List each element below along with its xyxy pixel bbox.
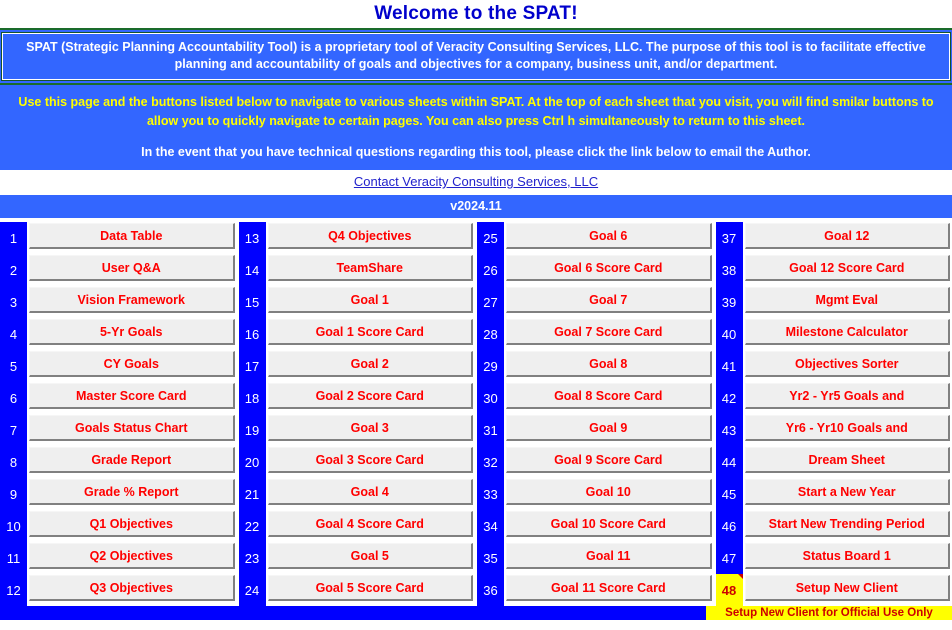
nav-index-cell: 30 xyxy=(477,382,504,414)
nav-button-cell: Start a New Year xyxy=(743,478,952,510)
nav-index-cell: 24 xyxy=(239,574,266,606)
nav-row: 32Goal 9 Score Card xyxy=(477,446,714,478)
nav-index-cell: 15 xyxy=(239,286,266,318)
contact-author-link[interactable]: Contact Veracity Consulting Services, LL… xyxy=(354,174,598,189)
nav-row: 46Start New Trending Period xyxy=(716,510,952,542)
nav-index-cell: 23 xyxy=(239,542,266,574)
nav-button-29[interactable]: Goal 8 xyxy=(506,351,712,377)
nav-button-33[interactable]: Goal 10 xyxy=(506,479,712,505)
nav-button-48[interactable]: Setup New Client xyxy=(745,575,951,601)
nav-row: 27Goal 7 xyxy=(477,286,714,318)
nav-button-cell: Goal 10 xyxy=(504,478,714,510)
nav-button-44[interactable]: Dream Sheet xyxy=(745,447,951,473)
nav-button-18[interactable]: Goal 2 Score Card xyxy=(268,383,474,409)
nav-button-cell: Q1 Objectives xyxy=(27,510,237,542)
nav-index-cell: 32 xyxy=(477,446,504,478)
nav-button-cell: Master Score Card xyxy=(27,382,237,414)
nav-button-41[interactable]: Objectives Sorter xyxy=(745,351,951,377)
nav-button-cell: Data Table xyxy=(27,222,237,254)
nav-index-cell: 11 xyxy=(0,542,27,574)
nav-button-17[interactable]: Goal 2 xyxy=(268,351,474,377)
nav-row: 9Grade % Report xyxy=(0,478,237,510)
nav-button-25[interactable]: Goal 6 xyxy=(506,223,712,249)
nav-button-11[interactable]: Q2 Objectives xyxy=(29,543,235,569)
nav-button-cell: Goal 9 Score Card xyxy=(504,446,714,478)
version-label: v2024.11 xyxy=(450,199,501,213)
nav-index-cell: 2 xyxy=(0,254,27,286)
nav-button-cell: Goal 10 Score Card xyxy=(504,510,714,542)
nav-button-cell: Yr6 - Yr10 Goals and xyxy=(743,414,952,446)
nav-index-cell: 37 xyxy=(716,222,743,254)
nav-index-cell: 5 xyxy=(0,350,27,382)
nav-index-cell: 6 xyxy=(0,382,27,414)
nav-row: 10Q1 Objectives xyxy=(0,510,237,542)
nav-button-7[interactable]: Goals Status Chart xyxy=(29,415,235,441)
nav-button-9[interactable]: Grade % Report xyxy=(29,479,235,505)
nav-button-cell: Status Board 1 xyxy=(743,542,952,574)
nav-button-cell: Goal 3 Score Card xyxy=(266,446,476,478)
nav-button-cell: Objectives Sorter xyxy=(743,350,952,382)
nav-button-cell: Goal 8 Score Card xyxy=(504,382,714,414)
nav-row: 31Goal 9 xyxy=(477,414,714,446)
nav-row: 7Goals Status Chart xyxy=(0,414,237,446)
nav-index-cell: 25 xyxy=(477,222,504,254)
description-banner-box: SPAT (Strategic Planning Accountability … xyxy=(2,33,950,80)
nav-button-36[interactable]: Goal 11 Score Card xyxy=(506,575,712,601)
nav-button-38[interactable]: Goal 12 Score Card xyxy=(745,255,951,281)
nav-button-cell: Goal 11 xyxy=(504,542,714,574)
nav-row: 48Setup New Client xyxy=(716,574,952,606)
nav-index-cell: 26 xyxy=(477,254,504,286)
nav-button-cell: Goal 5 Score Card xyxy=(266,574,476,606)
nav-button-28[interactable]: Goal 7 Score Card xyxy=(506,319,712,345)
nav-button-13[interactable]: Q4 Objectives xyxy=(268,223,474,249)
nav-button-cell: Vision Framework xyxy=(27,286,237,318)
nav-index-cell: 13 xyxy=(239,222,266,254)
nav-button-37[interactable]: Goal 12 xyxy=(745,223,951,249)
nav-button-cell: Goals Status Chart xyxy=(27,414,237,446)
nav-index-cell: 10 xyxy=(0,510,27,542)
nav-button-21[interactable]: Goal 4 xyxy=(268,479,474,505)
nav-button-cell: Goal 2 xyxy=(266,350,476,382)
nav-index-cell: 16 xyxy=(239,318,266,350)
nav-index-cell: 9 xyxy=(0,478,27,510)
nav-button-24[interactable]: Goal 5 Score Card xyxy=(268,575,474,601)
nav-button-45[interactable]: Start a New Year xyxy=(745,479,951,505)
nav-index-cell: 14 xyxy=(239,254,266,286)
nav-row: 38Goal 12 Score Card xyxy=(716,254,952,286)
footer-strip: Setup New Client for Official Use Only xyxy=(0,606,952,620)
nav-button-cell: Goal 3 xyxy=(266,414,476,446)
nav-button-cell: Goal 7 Score Card xyxy=(504,318,714,350)
nav-index-cell: 21 xyxy=(239,478,266,510)
nav-button-cell: Milestone Calculator xyxy=(743,318,952,350)
nav-button-cell: Goal 12 Score Card xyxy=(743,254,952,286)
nav-button-cell: Yr2 - Yr5 Goals and xyxy=(743,382,952,414)
nav-row: 37Goal 12 xyxy=(716,222,952,254)
nav-button-cell: Goal 1 Score Card xyxy=(266,318,476,350)
nav-button-16[interactable]: Goal 1 Score Card xyxy=(268,319,474,345)
nav-index-cell: 12 xyxy=(0,574,27,606)
nav-row: 19Goal 3 xyxy=(239,414,476,446)
nav-row: 6Master Score Card xyxy=(0,382,237,414)
nav-button-4[interactable]: 5-Yr Goals xyxy=(29,319,235,345)
nav-row: 16Goal 1 Score Card xyxy=(239,318,476,350)
nav-button-47[interactable]: Status Board 1 xyxy=(745,543,951,569)
nav-button-cell: CY Goals xyxy=(27,350,237,382)
nav-button-14[interactable]: TeamShare xyxy=(268,255,474,281)
nav-index-cell: 7 xyxy=(0,414,27,446)
nav-button-32[interactable]: Goal 9 Score Card xyxy=(506,447,712,473)
nav-button-cell: Goal 4 xyxy=(266,478,476,510)
nav-button-cell: Dream Sheet xyxy=(743,446,952,478)
nav-row: 47Status Board 1 xyxy=(716,542,952,574)
nav-button-15[interactable]: Goal 1 xyxy=(268,287,474,313)
nav-index-cell: 33 xyxy=(477,478,504,510)
nav-row: 42Yr2 - Yr5 Goals and xyxy=(716,382,952,414)
nav-row: 33Goal 10 xyxy=(477,478,714,510)
nav-button-22[interactable]: Goal 4 Score Card xyxy=(268,511,474,537)
nav-index-cell: 40 xyxy=(716,318,743,350)
nav-button-cell: Goal 5 xyxy=(266,542,476,574)
nav-button-19[interactable]: Goal 3 xyxy=(268,415,474,441)
description-banner: SPAT (Strategic Planning Accountability … xyxy=(0,28,952,85)
nav-row: 17Goal 2 xyxy=(239,350,476,382)
nav-index-cell: 29 xyxy=(477,350,504,382)
nav-button-cell: Goal 9 xyxy=(504,414,714,446)
nav-index-cell: 36 xyxy=(477,574,504,606)
nav-index-cell: 20 xyxy=(239,446,266,478)
instructions-section: Use this page and the buttons listed bel… xyxy=(0,85,952,170)
nav-button-3[interactable]: Vision Framework xyxy=(29,287,235,313)
nav-index-cell: 22 xyxy=(239,510,266,542)
nav-button-cell: Start New Trending Period xyxy=(743,510,952,542)
nav-button-12[interactable]: Q3 Objectives xyxy=(29,575,235,601)
nav-row: 34Goal 10 Score Card xyxy=(477,510,714,542)
nav-row: 5CY Goals xyxy=(0,350,237,382)
nav-button-cell: Goal 7 xyxy=(504,286,714,318)
nav-row: 8Grade Report xyxy=(0,446,237,478)
nav-row: 35Goal 11 xyxy=(477,542,714,574)
nav-button-cell: User Q&A xyxy=(27,254,237,286)
nav-row: 13Q4 Objectives xyxy=(239,222,476,254)
nav-row: 3Vision Framework xyxy=(0,286,237,318)
nav-index-cell: 1 xyxy=(0,222,27,254)
version-bar: v2024.11 xyxy=(0,195,952,218)
nav-button-43[interactable]: Yr6 - Yr10 Goals and xyxy=(745,415,951,441)
nav-button-34[interactable]: Goal 10 Score Card xyxy=(506,511,712,537)
nav-button-cell: Setup New Client xyxy=(743,574,952,606)
nav-index-cell: 35 xyxy=(477,542,504,574)
nav-row: 12Q3 Objectives xyxy=(0,574,237,606)
nav-button-cell: Goal 8 xyxy=(504,350,714,382)
nav-row: 14TeamShare xyxy=(239,254,476,286)
nav-index-cell: 18 xyxy=(239,382,266,414)
nav-index-cell: 31 xyxy=(477,414,504,446)
nav-index-cell: 39 xyxy=(716,286,743,318)
nav-index-cell: 48 xyxy=(716,574,743,606)
nav-row: 39Mgmt Eval xyxy=(716,286,952,318)
nav-row: 43Yr6 - Yr10 Goals and xyxy=(716,414,952,446)
nav-index-cell: 34 xyxy=(477,510,504,542)
nav-row: 36Goal 11 Score Card xyxy=(477,574,714,606)
nav-button-27[interactable]: Goal 7 xyxy=(506,287,712,313)
nav-row: 45Start a New Year xyxy=(716,478,952,510)
nav-button-6[interactable]: Master Score Card xyxy=(29,383,235,409)
nav-index-cell: 45 xyxy=(716,478,743,510)
nav-index-cell: 41 xyxy=(716,350,743,382)
nav-row: 40Milestone Calculator xyxy=(716,318,952,350)
nav-button-20[interactable]: Goal 3 Score Card xyxy=(268,447,474,473)
nav-button-39[interactable]: Mgmt Eval xyxy=(745,287,951,313)
nav-row: 11Q2 Objectives xyxy=(0,542,237,574)
nav-row: 2User Q&A xyxy=(0,254,237,286)
nav-index-cell: 44 xyxy=(716,446,743,478)
nav-button-23[interactable]: Goal 5 xyxy=(268,543,474,569)
nav-button-cell: Goal 1 xyxy=(266,286,476,318)
nav-index-cell: 17 xyxy=(239,350,266,382)
nav-button-40[interactable]: Milestone Calculator xyxy=(745,319,951,345)
nav-index-cell: 46 xyxy=(716,510,743,542)
nav-button-cell: TeamShare xyxy=(266,254,476,286)
nav-row: 20Goal 3 Score Card xyxy=(239,446,476,478)
nav-index-cell: 8 xyxy=(0,446,27,478)
nav-column-3: 25Goal 626Goal 6 Score Card27Goal 728Goa… xyxy=(477,222,714,606)
nav-button-46[interactable]: Start New Trending Period xyxy=(745,511,951,537)
nav-row: 45-Yr Goals xyxy=(0,318,237,350)
nav-column-2: 13Q4 Objectives14TeamShare15Goal 116Goal… xyxy=(239,222,476,606)
nav-button-cell: Goal 11 Score Card xyxy=(504,574,714,606)
nav-row: 15Goal 1 xyxy=(239,286,476,318)
nav-row: 25Goal 6 xyxy=(477,222,714,254)
nav-button-cell: Goal 6 xyxy=(504,222,714,254)
nav-index-cell: 19 xyxy=(239,414,266,446)
comment-marker-icon xyxy=(738,574,743,579)
nav-index-cell: 3 xyxy=(0,286,27,318)
nav-column-1: 1Data Table2User Q&A3Vision Framework45-… xyxy=(0,222,237,606)
nav-row: 29Goal 8 xyxy=(477,350,714,382)
nav-index-cell: 27 xyxy=(477,286,504,318)
nav-button-cell: Goal 2 Score Card xyxy=(266,382,476,414)
nav-button-cell: Q2 Objectives xyxy=(27,542,237,574)
nav-index-cell: 43 xyxy=(716,414,743,446)
page-title: Welcome to the SPAT! xyxy=(374,3,578,25)
nav-button-42[interactable]: Yr2 - Yr5 Goals and xyxy=(745,383,951,409)
nav-column-4: 37Goal 1238Goal 12 Score Card39Mgmt Eval… xyxy=(716,222,952,606)
nav-button-26[interactable]: Goal 6 Score Card xyxy=(506,255,712,281)
nav-index-cell: 47 xyxy=(716,542,743,574)
nav-index-cell: 4 xyxy=(0,318,27,350)
nav-button-cell: 5-Yr Goals xyxy=(27,318,237,350)
nav-row: 26Goal 6 Score Card xyxy=(477,254,714,286)
nav-row: 28Goal 7 Score Card xyxy=(477,318,714,350)
nav-button-30[interactable]: Goal 8 Score Card xyxy=(506,383,712,409)
description-text: SPAT (Strategic Planning Accountability … xyxy=(13,39,939,73)
author-contact-note: In the event that you have technical que… xyxy=(8,131,944,166)
page-title-bar: Welcome to the SPAT! xyxy=(0,0,952,28)
nav-button-2[interactable]: User Q&A xyxy=(29,255,235,281)
spat-home-page: Welcome to the SPAT! SPAT (Strategic Pla… xyxy=(0,0,952,630)
nav-row: 22Goal 4 Score Card xyxy=(239,510,476,542)
navigation-help-text: Use this page and the buttons listed bel… xyxy=(8,93,944,131)
nav-row: 23Goal 5 xyxy=(239,542,476,574)
nav-button-cell: Q4 Objectives xyxy=(266,222,476,254)
nav-index-cell: 42 xyxy=(716,382,743,414)
navigation-button-grid: 1Data Table2User Q&A3Vision Framework45-… xyxy=(0,218,952,606)
nav-button-cell: Goal 12 xyxy=(743,222,952,254)
nav-button-35[interactable]: Goal 11 xyxy=(506,543,712,569)
nav-button-5[interactable]: CY Goals xyxy=(29,351,235,377)
nav-button-31[interactable]: Goal 9 xyxy=(506,415,712,441)
contact-link-row: Contact Veracity Consulting Services, LL… xyxy=(0,170,952,195)
nav-index-cell: 38 xyxy=(716,254,743,286)
nav-button-cell: Q3 Objectives xyxy=(27,574,237,606)
nav-button-cell: Goal 4 Score Card xyxy=(266,510,476,542)
nav-row: 30Goal 8 Score Card xyxy=(477,382,714,414)
nav-row: 24Goal 5 Score Card xyxy=(239,574,476,606)
official-use-note: Setup New Client for Official Use Only xyxy=(706,606,952,620)
nav-button-cell: Grade Report xyxy=(27,446,237,478)
nav-button-8[interactable]: Grade Report xyxy=(29,447,235,473)
nav-button-cell: Goal 6 Score Card xyxy=(504,254,714,286)
nav-button-cell: Grade % Report xyxy=(27,478,237,510)
nav-button-1[interactable]: Data Table xyxy=(29,223,235,249)
nav-row: 44Dream Sheet xyxy=(716,446,952,478)
nav-row: 41Objectives Sorter xyxy=(716,350,952,382)
nav-row: 21Goal 4 xyxy=(239,478,476,510)
nav-button-10[interactable]: Q1 Objectives xyxy=(29,511,235,537)
nav-index-cell: 28 xyxy=(477,318,504,350)
nav-button-cell: Mgmt Eval xyxy=(743,286,952,318)
nav-row: 18Goal 2 Score Card xyxy=(239,382,476,414)
nav-row: 1Data Table xyxy=(0,222,237,254)
